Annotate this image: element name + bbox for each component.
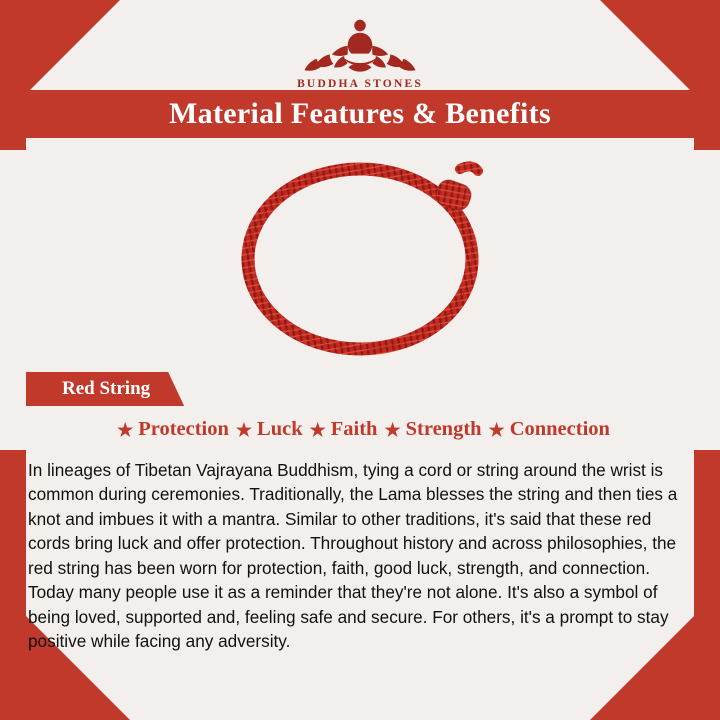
- star-icon: ★: [384, 421, 400, 439]
- product-image-area: [26, 138, 694, 378]
- benefit-label: Strength: [406, 418, 482, 441]
- page-title: Material Features & Benefits: [169, 97, 551, 131]
- benefit-item-protection: ★ Protection: [110, 418, 229, 441]
- title-banner: Material Features & Benefits: [26, 90, 694, 138]
- product-name-ribbon: Red String: [26, 372, 184, 406]
- brand-name: BUDDHA STONES: [297, 78, 423, 90]
- benefit-item-strength: ★ Strength: [377, 418, 481, 441]
- description-paragraph: In lineages of Tibetan Vajrayana Buddhis…: [26, 458, 696, 653]
- left-border-notch: [0, 150, 26, 450]
- star-icon: ★: [117, 421, 133, 439]
- benefit-item-connection: ★ Connection: [482, 418, 610, 441]
- red-braided-string-bracelet-icon: [210, 151, 510, 366]
- benefit-item-luck: ★ Luck: [229, 418, 303, 441]
- brand-logo: BUDDHA STONES: [0, 14, 720, 90]
- benefit-keyword-row: ★ Protection ★ Luck ★ Faith ★ Strength ★…: [26, 418, 694, 441]
- right-border-notch: [694, 150, 720, 450]
- benefit-label: Connection: [510, 418, 610, 441]
- star-icon: ★: [310, 421, 326, 439]
- product-name-label: Red String: [62, 378, 150, 400]
- benefit-label: Protection: [138, 418, 229, 441]
- star-icon: ★: [489, 421, 505, 439]
- star-icon: ★: [236, 421, 252, 439]
- lotus-meditation-icon: [300, 14, 420, 76]
- benefit-item-faith: ★ Faith: [303, 418, 378, 441]
- benefit-label: Faith: [331, 418, 378, 441]
- benefit-label: Luck: [257, 418, 303, 441]
